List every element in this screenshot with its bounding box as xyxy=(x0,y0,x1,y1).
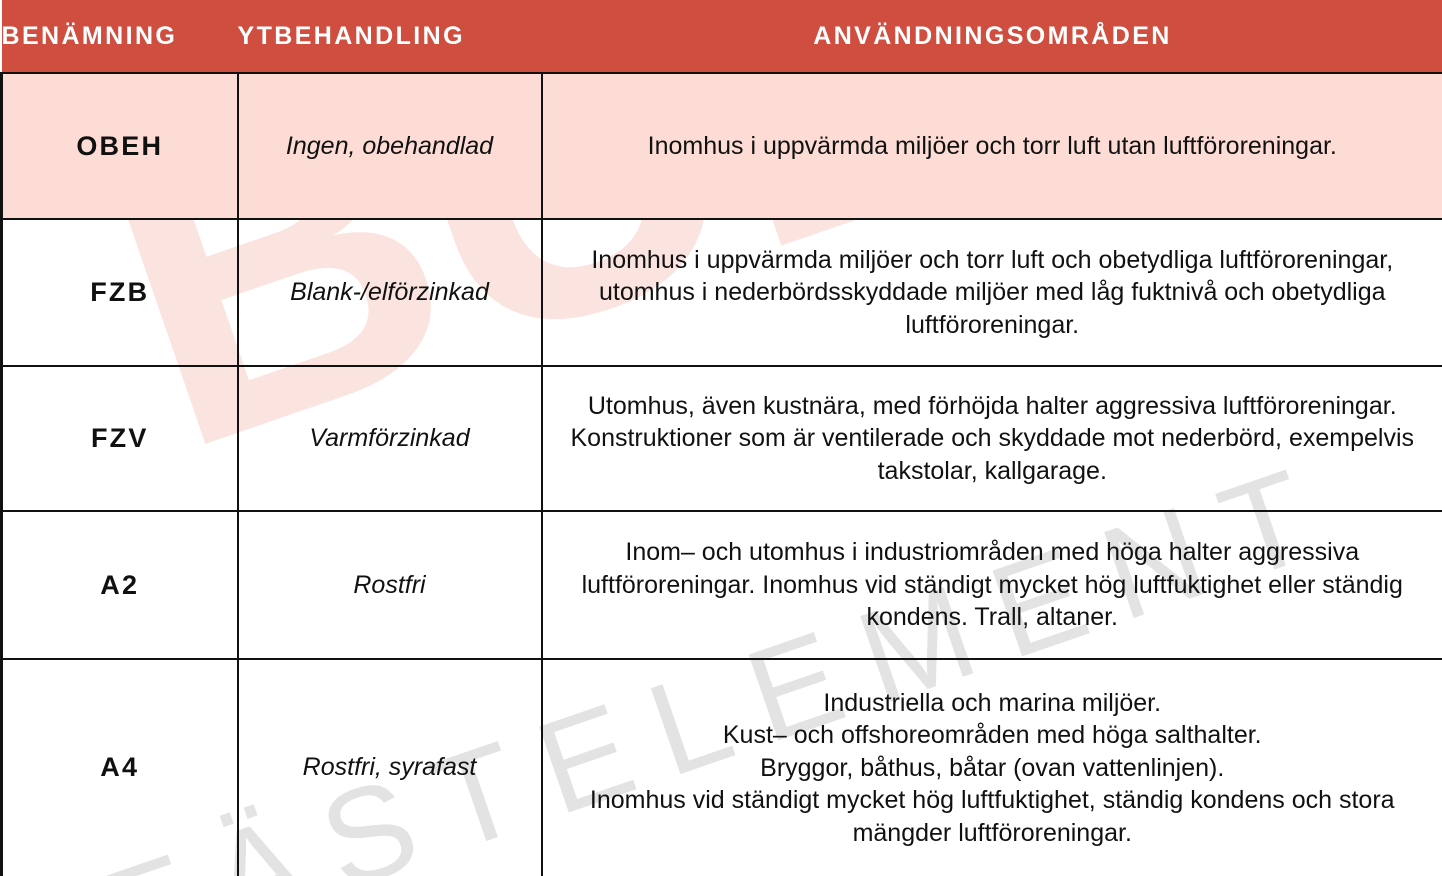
cell-ytbehandling: Blank-/elförzinkad xyxy=(238,219,542,366)
table-row: FZV Varmförzinkad Utomhus, även kustnära… xyxy=(2,366,1442,511)
cell-ytbehandling: Ingen, obehandlad xyxy=(238,73,542,219)
cell-anvandningsomraden: Inom– och utomhus i industriområden med … xyxy=(542,511,1442,659)
cell-benamning: A4 xyxy=(2,659,238,876)
table-body: OBEH Ingen, obehandlad Inomhus i uppvärm… xyxy=(2,73,1442,876)
column-header-ytbehandling: YTBEHANDLING xyxy=(238,0,542,73)
cell-benamning: FZB xyxy=(2,219,238,366)
cell-benamning: FZV xyxy=(2,366,238,511)
table-header-row: BENÄMNING YTBEHANDLING ANVÄNDNINGSOMRÅDE… xyxy=(2,0,1442,73)
cell-ytbehandling: Varmförzinkad xyxy=(238,366,542,511)
spec-table-container: BENÄMNING YTBEHANDLING ANVÄNDNINGSOMRÅDE… xyxy=(0,0,1442,876)
table-row: A2 Rostfri Inom– och utomhus i industrio… xyxy=(2,511,1442,659)
cell-ytbehandling: Rostfri xyxy=(238,511,542,659)
surface-treatment-table: BENÄMNING YTBEHANDLING ANVÄNDNINGSOMRÅDE… xyxy=(0,0,1442,876)
cell-anvandningsomraden: Inomhus i uppvärmda miljöer och torr luf… xyxy=(542,219,1442,366)
cell-anvandningsomraden: Industriella och marina miljöer. Kust– o… xyxy=(542,659,1442,876)
table-row: A4 Rostfri, syrafast Industriella och ma… xyxy=(2,659,1442,876)
cell-benamning: OBEH xyxy=(2,73,238,219)
page-root: BULTAB FÄSTELEMENT BENÄMNING YTBEHANDLIN… xyxy=(0,0,1442,876)
cell-anvandningsomraden: Utomhus, även kustnära, med förhöjda hal… xyxy=(542,366,1442,511)
cell-ytbehandling: Rostfri, syrafast xyxy=(238,659,542,876)
cell-benamning: A2 xyxy=(2,511,238,659)
cell-anvandningsomraden: Inomhus i uppvärmda miljöer och torr luf… xyxy=(542,73,1442,219)
table-row: OBEH Ingen, obehandlad Inomhus i uppvärm… xyxy=(2,73,1442,219)
table-row: FZB Blank-/elförzinkad Inomhus i uppvärm… xyxy=(2,219,1442,366)
table-header: BENÄMNING YTBEHANDLING ANVÄNDNINGSOMRÅDE… xyxy=(2,0,1442,73)
column-header-benamning: BENÄMNING xyxy=(2,0,238,73)
column-header-anvandningsomraden: ANVÄNDNINGSOMRÅDEN xyxy=(542,0,1442,73)
